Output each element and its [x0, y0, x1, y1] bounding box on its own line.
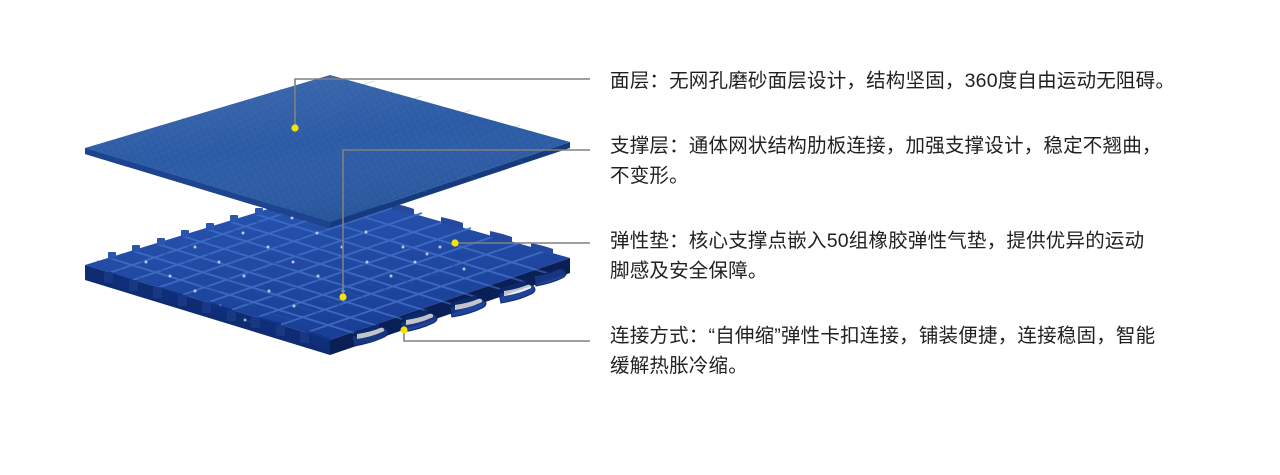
annotation-list: 面层：无网孔磨砂面层设计，结构坚固，360度自由运动无阻碍。 支撑层：通体网状结… [610, 0, 1250, 475]
annotation-elastic-pad: 弹性垫：核心支撑点嵌入50组橡胶弹性气垫，提供优异的运动 脚感及安全保障。 [610, 226, 1238, 286]
surface-layer-panel [85, 75, 570, 228]
product-illustration [0, 0, 620, 475]
annotation-connection-method: 连接方式：“自伸缩”弹性卡扣连接，铺装便捷，连接稳固，智能 缓解热胀冷缩。 [610, 321, 1238, 381]
annotation-surface-layer: 面层：无网孔磨砂面层设计，结构坚固，360度自由运动无阻碍。 [610, 66, 1238, 96]
product-feature-diagram: 面层：无网孔磨砂面层设计，结构坚固，360度自由运动无阻碍。 支撑层：通体网状结… [0, 0, 1280, 475]
annotation-support-layer: 支撑层：通体网状结构肋板连接，加强支撑设计，稳定不翘曲， 不变形。 [610, 131, 1238, 191]
